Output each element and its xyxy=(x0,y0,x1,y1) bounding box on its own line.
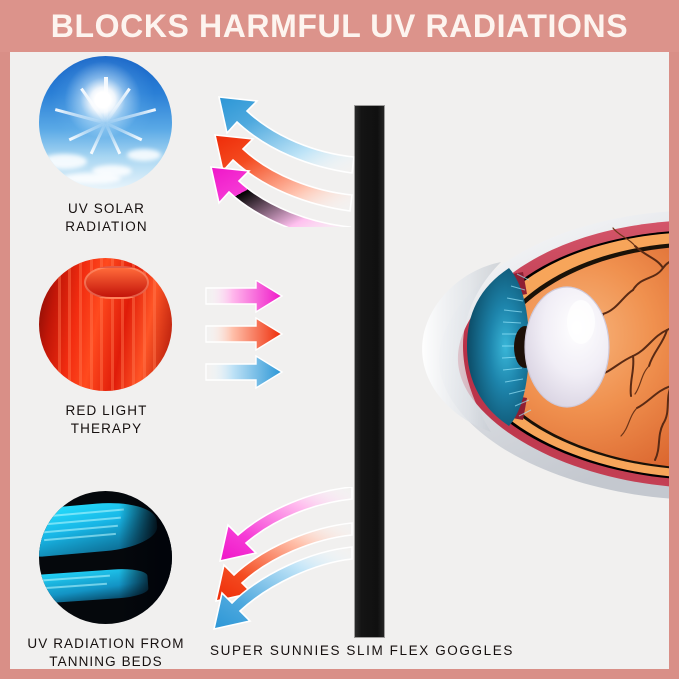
label-red-light-therapy: RED LIGHT THERAPY xyxy=(19,402,194,438)
label-uv-radiation-tanning-beds: UV RADIATION FROM TANNING BEDS xyxy=(10,635,202,669)
infographic-page: BLOCKS HARMFUL UV RADIATIONS UV SOLAR RA… xyxy=(0,0,679,679)
red-light-booth-icon xyxy=(39,258,172,391)
product-caption: SUPER SUNNIES SLIM FLEX GOGGLES xyxy=(210,643,640,658)
lens xyxy=(525,287,609,407)
arrow-magenta-right xyxy=(206,280,282,312)
label-uv-solar-radiation: UV SOLAR RADIATION xyxy=(19,200,194,236)
goggle-lens-bar xyxy=(355,106,384,637)
label-line-2: THERAPY xyxy=(19,420,194,438)
down-left-curved-arrows xyxy=(200,487,355,632)
arrow-blue-right xyxy=(206,356,282,388)
page-title: BLOCKS HARMFUL UV RADIATIONS xyxy=(0,0,679,52)
header-band: BLOCKS HARMFUL UV RADIATIONS xyxy=(0,0,679,52)
label-line-1: UV SOLAR xyxy=(19,200,194,218)
content-canvas: UV SOLAR RADIATION RED LIGHT THERAPY xyxy=(10,52,669,669)
lens-highlight xyxy=(567,300,595,344)
tanning-bed-icon xyxy=(39,491,172,624)
sun-in-blue-sky-icon xyxy=(39,56,172,189)
label-line-1: UV RADIATION FROM xyxy=(10,635,202,653)
straight-right-arrows xyxy=(200,280,350,395)
arrow-red-right xyxy=(206,318,282,350)
up-left-curved-arrows xyxy=(205,87,355,227)
label-line-2: RADIATION xyxy=(19,218,194,236)
eye-cross-section-diagram xyxy=(405,210,669,500)
label-line-2: TANNING BEDS xyxy=(10,653,202,669)
label-line-1: RED LIGHT xyxy=(19,402,194,420)
